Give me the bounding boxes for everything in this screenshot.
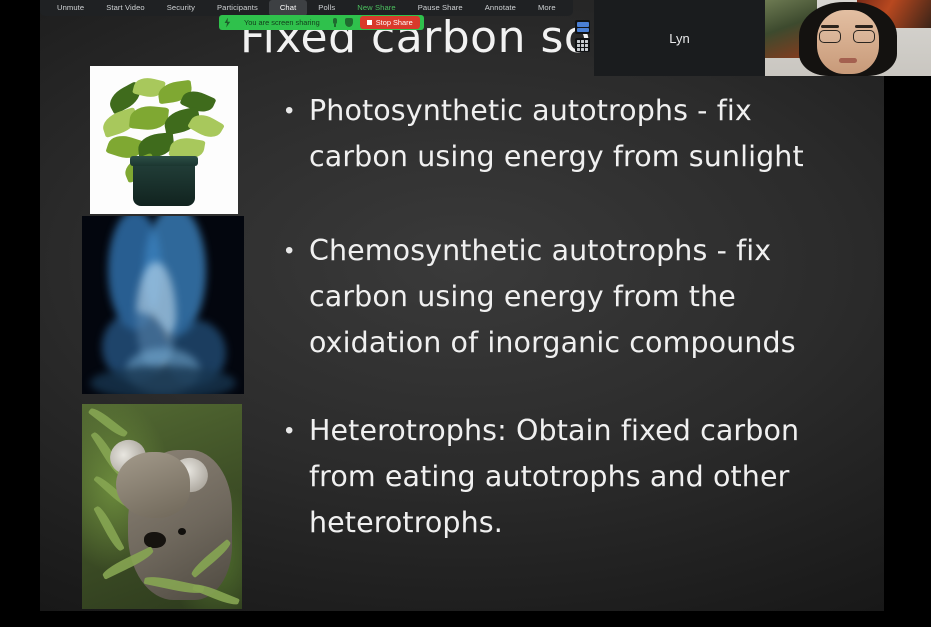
participant-name: Lyn bbox=[669, 31, 689, 46]
screen-sharing-bar: You are screen sharing Stop Share bbox=[219, 15, 424, 30]
gallery-view-icon[interactable] bbox=[575, 38, 590, 52]
potted-plant-photo bbox=[90, 66, 238, 214]
toolbar-item-start-video[interactable]: Start Video bbox=[95, 0, 156, 16]
glasses-icon bbox=[853, 30, 875, 43]
stop-share-label: Stop Share bbox=[376, 16, 413, 29]
toolbar-item-chat[interactable]: Chat bbox=[269, 0, 307, 16]
letterbox-left bbox=[0, 0, 40, 627]
zoom-screen-share-window: Fixed carbon so bbox=[0, 0, 931, 627]
toolbar-item-more[interactable]: More bbox=[527, 0, 567, 16]
lightning-icon bbox=[223, 18, 232, 28]
microphone-icon[interactable] bbox=[331, 18, 339, 27]
bullet-item: • Heterotrophs: Obtain fixed carbon from… bbox=[285, 408, 855, 546]
speaker-view-icon[interactable] bbox=[575, 20, 590, 34]
glasses-icon bbox=[819, 30, 841, 43]
bullet-text: Chemosynthetic autotrophs - fix carbon u… bbox=[309, 228, 855, 366]
shared-slide: Fixed carbon so bbox=[40, 0, 884, 627]
sharing-status-text: You are screen sharing bbox=[234, 18, 328, 27]
toolbar-item-polls[interactable]: Polls bbox=[307, 0, 346, 16]
toolbar-item-security[interactable]: Security bbox=[156, 0, 206, 16]
bullet-item: • Chemosynthetic autotrophs - fix carbon… bbox=[285, 228, 855, 366]
letterbox-right bbox=[884, 0, 931, 627]
toolbar-item-annotate[interactable]: Annotate bbox=[474, 0, 527, 16]
bullet-text: Photosynthetic autotrophs - fix carbon u… bbox=[309, 88, 855, 180]
shield-icon[interactable] bbox=[345, 18, 353, 27]
bullet-text: Heterotrophs: Obtain fixed carbon from e… bbox=[309, 408, 855, 546]
toolbar-item-unmute[interactable]: Unmute bbox=[46, 0, 95, 16]
toolbar-item-pause-share[interactable]: Pause Share bbox=[407, 0, 474, 16]
meeting-toolbar: Unmute Start Video Security Participants… bbox=[40, 0, 573, 16]
letterbox-bottom bbox=[0, 611, 931, 627]
view-layout-controls bbox=[575, 20, 590, 52]
bullet-marker-icon: • bbox=[285, 88, 309, 180]
bullet-marker-icon: • bbox=[285, 408, 309, 546]
bullet-item: • Photosynthetic autotrophs - fix carbon… bbox=[285, 88, 855, 180]
toolbar-item-participants[interactable]: Participants bbox=[206, 0, 269, 16]
participant-tiles: Lyn bbox=[594, 0, 931, 76]
slide-bullet-list: • Photosynthetic autotrophs - fix carbon… bbox=[285, 88, 855, 584]
self-video-tile[interactable] bbox=[765, 0, 931, 76]
plant-pot bbox=[133, 160, 195, 206]
stop-square-icon bbox=[367, 20, 372, 25]
koala-head bbox=[116, 452, 190, 518]
participant-tile-lyn[interactable]: Lyn bbox=[594, 0, 765, 76]
koala-photo bbox=[82, 404, 242, 609]
toolbar-item-new-share[interactable]: New Share bbox=[346, 0, 406, 16]
hydrothermal-vent-photo bbox=[82, 216, 244, 394]
bullet-marker-icon: • bbox=[285, 228, 309, 366]
stop-share-button[interactable]: Stop Share bbox=[360, 16, 420, 29]
